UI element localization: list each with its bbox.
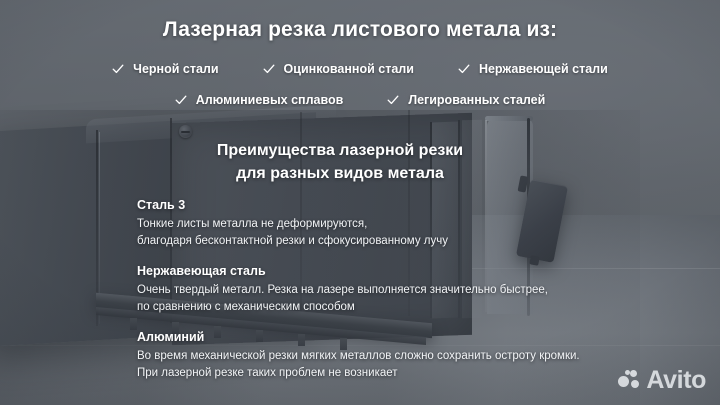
- advantage-item: Нержавеющая сталь Очень твердый металл. …: [137, 264, 657, 317]
- material-item: Алюминиевых сплавов: [175, 93, 344, 107]
- advantage-text-line: Во время механической резки мягких метал…: [137, 348, 657, 365]
- section-subtitle-line-1: Преимущества лазерной резки: [130, 140, 550, 163]
- material-item: Оцинкованной стали: [263, 62, 414, 76]
- advantage-text-line: При лазерной резке таких проблем не возн…: [137, 365, 657, 382]
- advantage-text-line: благодаря бесконтактной резки и сфокусир…: [137, 233, 657, 250]
- promo-banner: Лазерная резка листового метала из: Черн…: [0, 0, 720, 405]
- materials-row-primary: Черной стали Оцинкованной стали Нержавею…: [0, 62, 720, 76]
- check-icon: [387, 94, 399, 106]
- material-label: Легированных сталей: [408, 93, 545, 107]
- material-label: Алюминиевых сплавов: [196, 93, 344, 107]
- banner-content: Лазерная резка листового метала из: Черн…: [0, 0, 720, 405]
- check-icon: [458, 63, 470, 75]
- advantage-item: Алюминий Во время механической резки мяг…: [137, 330, 657, 383]
- advantage-title: Сталь 3: [137, 198, 657, 212]
- advantage-item: Сталь 3 Тонкие листы металла не деформир…: [137, 198, 657, 251]
- advantage-text-line: по сравнению с механическим способом: [137, 299, 657, 316]
- advantage-text-line: Тонкие листы металла не деформируются,: [137, 216, 657, 233]
- material-item: Нержавеющей стали: [458, 62, 608, 76]
- material-label: Оцинкованной стали: [284, 62, 414, 76]
- section-subtitle: Преимущества лазерной резки для разных в…: [130, 140, 550, 185]
- avito-dots-icon: [618, 370, 641, 391]
- advantage-title: Алюминий: [137, 330, 657, 344]
- check-icon: [263, 63, 275, 75]
- page-title: Лазерная резка листового метала из:: [0, 18, 720, 42]
- materials-row-secondary: Алюминиевых сплавов Легированных сталей: [0, 93, 720, 107]
- advantage-title: Нержавеющая сталь: [137, 264, 657, 278]
- check-icon: [112, 63, 124, 75]
- avito-wordmark: Avito: [646, 368, 706, 393]
- section-subtitle-line-2: для разных видов метала: [130, 163, 550, 186]
- material-item: Черной стали: [112, 62, 218, 76]
- check-icon: [175, 94, 187, 106]
- avito-watermark: Avito: [618, 368, 706, 393]
- advantages-list: Сталь 3 Тонкие листы металла не деформир…: [137, 198, 657, 383]
- material-label: Нержавеющей стали: [479, 62, 608, 76]
- material-label: Черной стали: [133, 62, 218, 76]
- material-item: Легированных сталей: [387, 93, 545, 107]
- advantage-text-line: Очень твердый металл. Резка на лазере вы…: [137, 282, 657, 299]
